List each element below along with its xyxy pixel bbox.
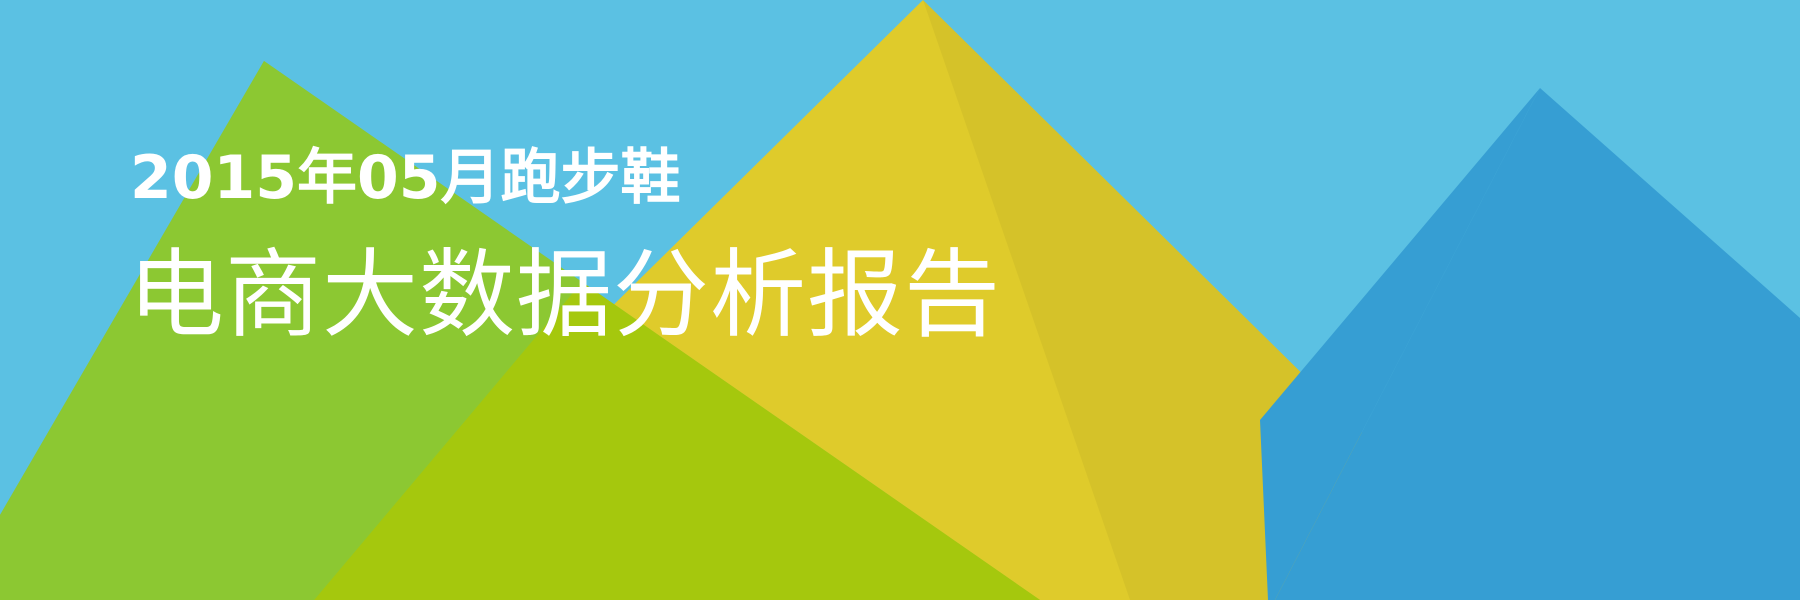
background-mountain-graphic <box>0 0 1800 600</box>
report-cover-banner: 2015年05月跑步鞋 电商大数据分析报告 <box>0 0 1800 600</box>
